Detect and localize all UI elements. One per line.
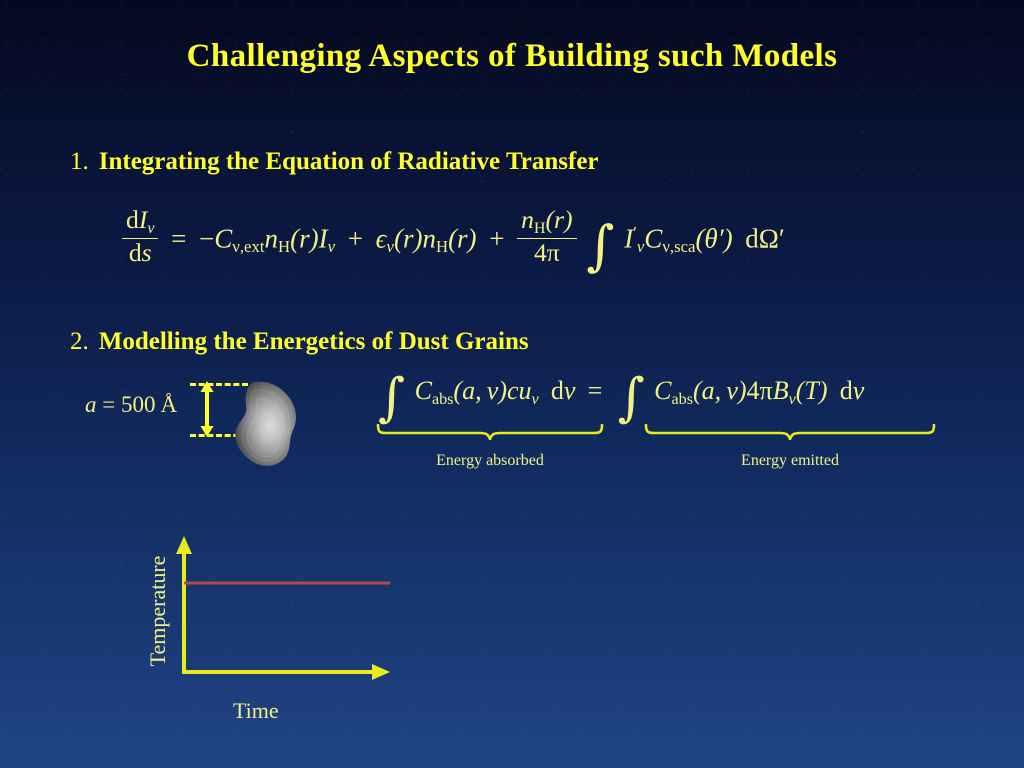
underbrace-energy-absorbed [376,424,604,440]
label-energy-absorbed: Energy absorbed [376,452,604,470]
chart-xlabel: Time [233,698,279,724]
underbrace-energy-emitted [644,424,936,440]
chart-axes [128,520,428,695]
list-item-2: 2.Modelling the Energetics of Dust Grain… [70,328,529,356]
label-energy-emitted: Energy emitted [644,452,936,470]
list-item-2-label: Modelling the Energetics of Dust Grains [99,328,529,355]
density-fraction: nH(r) 4π [517,207,576,265]
chart-ylabel: Temperature [145,526,171,696]
equals-sign: = [171,223,186,253]
integral-sign: ∫ [583,230,617,262]
dust-grain-illustration [228,380,300,468]
slide-canvas: Challenging Aspects of Building such Mod… [0,0,1024,768]
integral-sign-right: ∫ [615,383,648,414]
integral-sign-left: ∫ [375,383,408,414]
grain-size-label: a = 500Å [85,392,177,418]
equation-energy-balance: ∫ Cabs(a, ν)cuν dν = ∫ Cabs(a, ν)4πBν(T)… [375,378,864,414]
list-item-1-number: 1. [70,148,89,175]
page-title: Challenging Aspects of Building such Mod… [0,38,1024,75]
equation-radiative-transfer: dIν ds = −Cν,extnH(r)Iν + ϵν(r)nH(r) + n… [122,207,785,265]
list-item-1-label: Integrating the Equation of Radiative Tr… [99,148,599,175]
grain-size-arrow-icon [199,381,215,437]
list-item-2-number: 2. [70,328,89,355]
list-item-1: 1.Integrating the Equation of Radiative … [70,148,599,176]
temperature-time-chart: Temperature Time [128,520,428,730]
derivative-fraction: dIν ds [122,207,158,265]
